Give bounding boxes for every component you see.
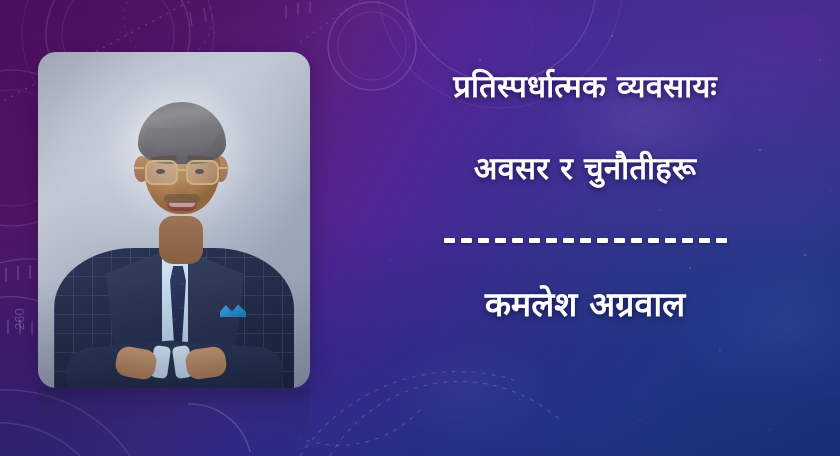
divider-dash xyxy=(631,238,642,243)
portrait-reflection-mirror xyxy=(38,388,310,456)
banner-title-line-2: अवसर र चुनौतीहरू xyxy=(474,148,696,190)
portrait-reflection xyxy=(38,388,310,456)
divider-dash xyxy=(512,238,523,243)
divider-dash xyxy=(529,238,540,243)
divider-dash xyxy=(682,238,693,243)
divider-dash xyxy=(665,238,676,243)
divider-dash xyxy=(648,238,659,243)
divider-dash xyxy=(580,238,591,243)
divider-dash xyxy=(614,238,625,243)
dashed-divider xyxy=(444,238,727,243)
portrait-shading xyxy=(38,52,310,388)
divider-dash xyxy=(546,238,557,243)
divider-dash xyxy=(444,238,455,243)
divider-dash xyxy=(563,238,574,243)
banner-title-line-1: प्रतिस्पर्धात्मक व्यवसायः xyxy=(453,66,717,108)
divider-dash xyxy=(699,238,710,243)
divider-dash xyxy=(495,238,506,243)
seminar-banner: 260 xyxy=(0,0,840,456)
divider-dash xyxy=(716,238,727,243)
speaker-portrait-photo xyxy=(38,52,310,388)
speaker-name: कमलेश अग्रवाल xyxy=(485,283,685,327)
divider-dash xyxy=(461,238,472,243)
banner-text-block: प्रतिस्पर्धात्मक व्यवसायः अवसर र चुनौतीह… xyxy=(330,0,840,456)
divider-dash xyxy=(478,238,489,243)
divider-dash xyxy=(597,238,608,243)
